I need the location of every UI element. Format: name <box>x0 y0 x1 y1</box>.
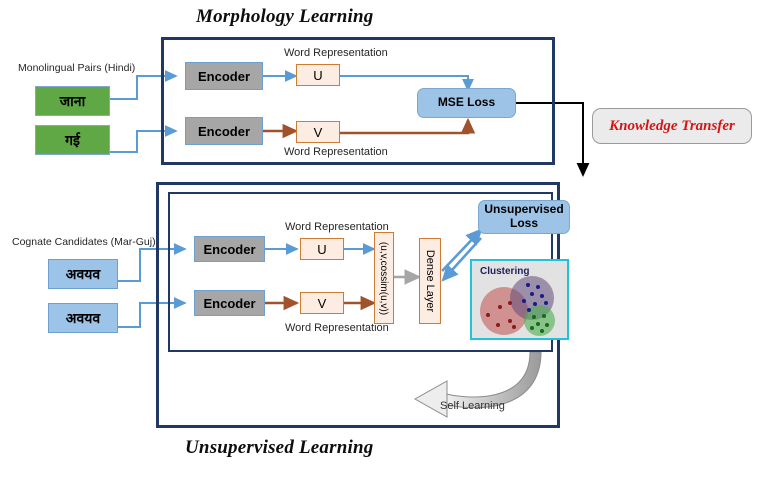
input-word-hindi-2[interactable]: गई <box>35 125 110 155</box>
input-word-hindi-1[interactable]: जाना <box>35 86 110 116</box>
input-word-cognate-2[interactable]: अवयव <box>48 303 118 333</box>
word-representation-label-top-1: Word Representation <box>284 47 388 59</box>
monolingual-pairs-label: Monolingual Pairs (Hindi) <box>18 62 135 74</box>
cluster-dot-green <box>532 315 536 319</box>
cognate-candidates-label: Cognate Candidates (Mar-Guj) <box>12 236 156 248</box>
cluster-dot-purple <box>526 283 530 287</box>
knowledge-transfer-box: Knowledge Transfer <box>592 108 752 144</box>
word-representation-label-top-2: Word Representation <box>284 146 388 158</box>
clustering-panel: Clustering <box>470 259 569 340</box>
cossim-label: (u,v,cossim(u,v)) <box>379 241 390 314</box>
cluster-dot-green <box>530 326 534 330</box>
cluster-dot-red <box>508 319 512 323</box>
encoder-top-2[interactable]: Encoder <box>185 117 263 145</box>
section-title-morphology: Morphology Learning <box>196 6 373 28</box>
word-rep-u-top[interactable]: U <box>296 64 340 86</box>
diagram-canvas: Morphology Learning Monolingual Pairs (H… <box>0 0 762 478</box>
self-learning-label-wrap: Self Learning <box>440 396 505 414</box>
encoder-top-1[interactable]: Encoder <box>185 62 263 90</box>
cluster-dot-green <box>545 323 549 327</box>
knowledge-transfer-label: Knowledge Transfer <box>609 118 735 135</box>
cluster-dot-purple <box>533 302 537 306</box>
cluster-dot-red <box>496 323 500 327</box>
clustering-title: Clustering <box>480 266 529 277</box>
cluster-dot-green <box>542 314 546 318</box>
word-rep-v-top[interactable]: V <box>296 121 340 143</box>
cossim-box[interactable]: (u,v,cossim(u,v)) <box>374 232 394 324</box>
dense-layer-box[interactable]: Dense Layer <box>419 238 441 324</box>
section-title-unsupervised: Unsupervised Learning <box>185 437 373 459</box>
cluster-dot-red <box>512 325 516 329</box>
input-word-cognate-1[interactable]: अवयव <box>48 259 118 289</box>
cluster-dot-purple <box>540 294 544 298</box>
word-rep-u-bottom[interactable]: U <box>300 238 344 260</box>
cluster-dot-purple <box>536 285 540 289</box>
cluster-dot-purple <box>530 292 534 296</box>
cluster-dot-red <box>486 313 490 317</box>
cluster-dot-purple <box>522 299 526 303</box>
cluster-dot-red <box>508 301 512 305</box>
mse-loss-box[interactable]: MSE Loss <box>417 88 516 118</box>
encoder-bottom-2[interactable]: Encoder <box>194 290 265 316</box>
cluster-dot-purple <box>544 301 548 305</box>
cluster-dot-green <box>540 329 544 333</box>
self-learning-label: Self Learning <box>440 400 505 412</box>
cluster-dot-green <box>536 322 540 326</box>
cluster-dot-red <box>498 305 502 309</box>
encoder-bottom-1[interactable]: Encoder <box>194 236 265 262</box>
unsupervised-loss-box[interactable]: Unsupervised Loss <box>478 200 570 234</box>
dense-layer-label: Dense Layer <box>424 250 436 312</box>
word-rep-v-bottom[interactable]: V <box>300 292 344 314</box>
cluster-dot-purple <box>527 308 531 312</box>
